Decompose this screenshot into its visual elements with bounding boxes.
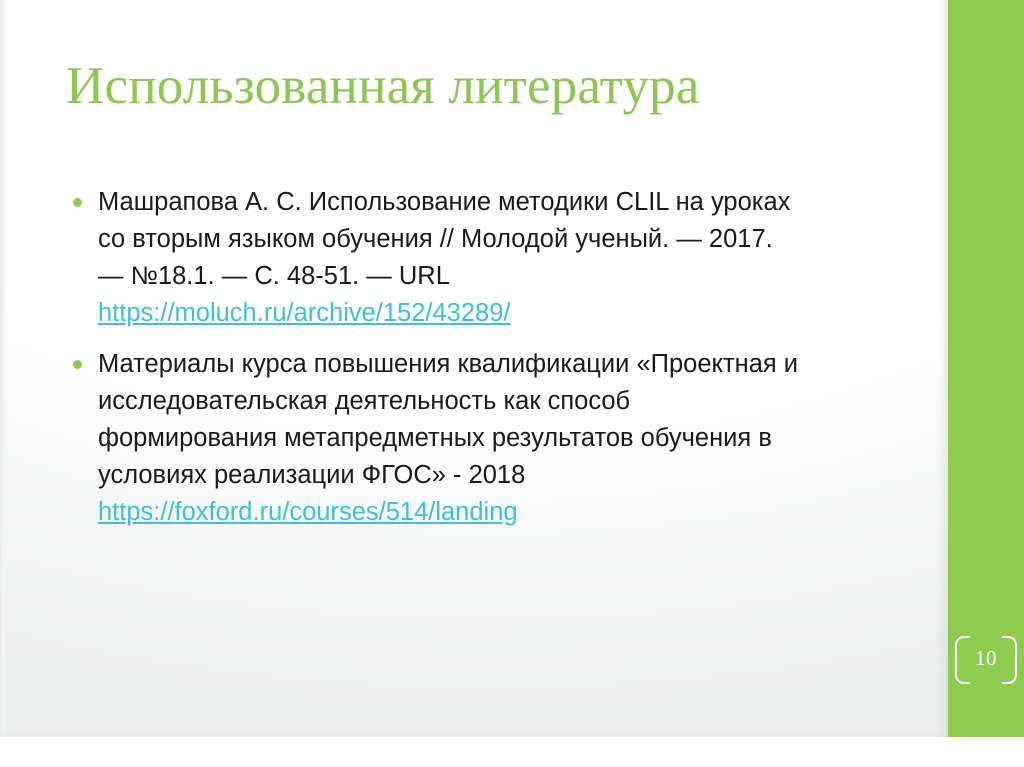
- page-number-plate: 10: [948, 628, 1024, 688]
- references-list: Машрапова А. С. Использование методики C…: [66, 184, 896, 531]
- reference-line: формирования метапредметных результатов …: [98, 420, 896, 457]
- slide-outer-margin: [0, 737, 1024, 767]
- bullet-dot-icon: [73, 360, 82, 369]
- reference-line: исследовательская деятельность как спосо…: [98, 383, 896, 420]
- list-item: Машрапова А. С. Использование методики C…: [66, 184, 896, 332]
- foxford-course-link[interactable]: https://foxford.ru/courses/514/landing: [98, 498, 518, 526]
- list-item: Материалы курса повышения квалификации «…: [66, 346, 896, 531]
- reference-line: Материалы курса повышения квалификации «…: [98, 346, 896, 383]
- sidebar-shadow: [938, 0, 948, 737]
- page-number: 10: [975, 648, 997, 669]
- bracket-right-icon: [1002, 636, 1017, 684]
- bracket-left-icon: [955, 636, 970, 684]
- reference-line: — №18.1. — С. 48-51. — URL: [98, 258, 896, 295]
- moluch-archive-link[interactable]: https://moluch.ru/archive/152/43289/: [98, 299, 511, 327]
- slide: Использованная литература Машрапова А. С…: [0, 0, 1024, 737]
- page-title: Использованная литература: [66, 59, 896, 115]
- reference-line: Машрапова А. С. Использование методики C…: [98, 184, 896, 221]
- slide-left-edge: [0, 0, 7, 737]
- accent-sidebar: 10: [948, 0, 1024, 737]
- reference-line: условиях реализации ФГОС» - 2018: [98, 457, 896, 494]
- bullet-dot-icon: [73, 198, 82, 207]
- reference-text: Материалы курса повышения квалификации «…: [98, 346, 896, 531]
- reference-text: Машрапова А. С. Использование методики C…: [98, 184, 896, 332]
- reference-line: со вторым языком обучения // Молодой уче…: [98, 221, 896, 258]
- slide-bottom-edge: [0, 731, 948, 737]
